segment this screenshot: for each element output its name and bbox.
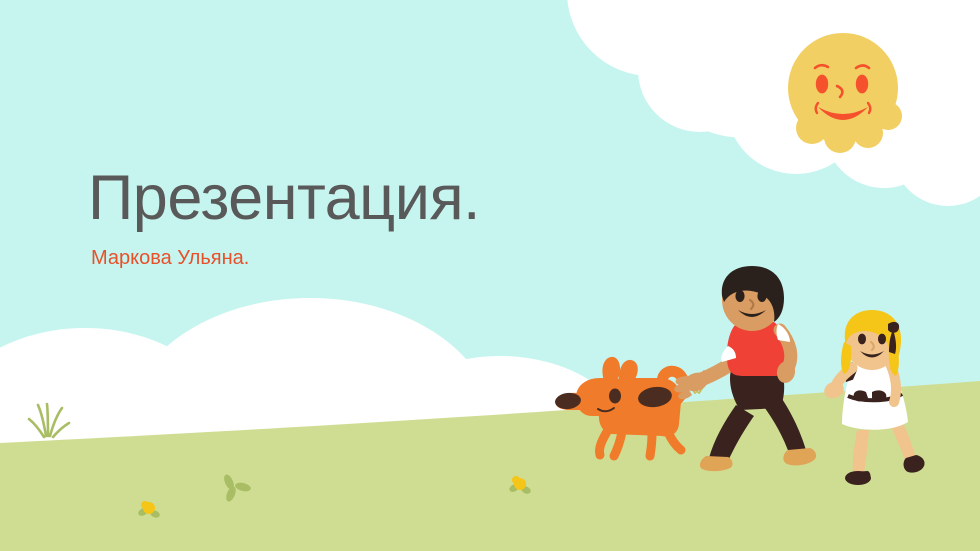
sun-body xyxy=(788,33,898,143)
girl-eye-right xyxy=(878,334,886,345)
slide-text-block: Презентация. Маркова Ульяна. xyxy=(88,166,648,270)
slide-subtitle: Маркова Ульяна. xyxy=(91,246,648,270)
dog-eye xyxy=(609,389,621,404)
presentation-slide: Презентация. Маркова Ульяна. xyxy=(0,0,980,551)
sun-eye-right xyxy=(856,75,868,94)
boy-eye-left xyxy=(735,290,744,302)
girl-eye-left xyxy=(858,334,866,345)
page-title: Презентация. xyxy=(88,166,648,230)
slide-background-illustration xyxy=(0,0,980,551)
boy-eye-right xyxy=(757,290,766,302)
girl-hair-bow xyxy=(888,322,899,333)
sun-eye-left xyxy=(816,75,828,94)
boy-shoe-left xyxy=(700,456,733,471)
